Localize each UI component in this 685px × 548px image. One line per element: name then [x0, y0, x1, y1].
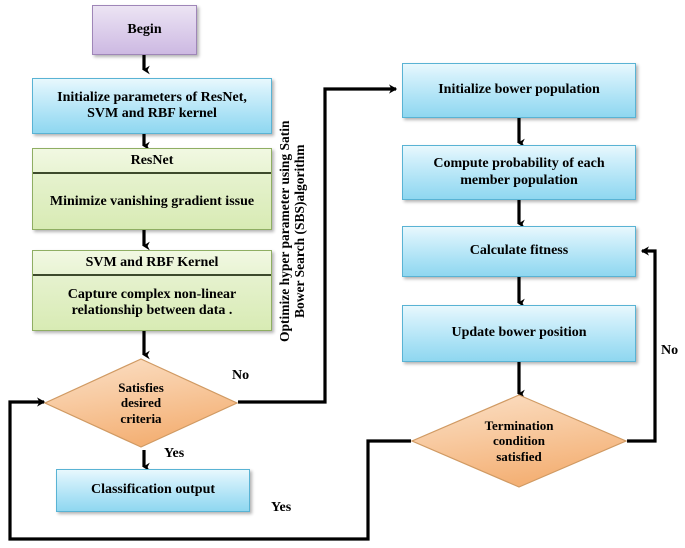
node-classification-output[interactable]: Classification output [56, 469, 250, 512]
edge-label-satisfies-yes: Yes [164, 446, 184, 462]
node-calculate-fitness[interactable]: Calculate fitness [402, 226, 636, 277]
node-initialize-bower-population-label: Initialize bower population [438, 82, 600, 98]
node-initialize-parameters[interactable]: Initialize parameters of ResNet, SVM and… [32, 78, 272, 134]
node-termination-condition[interactable]: Termination condition satisfied [411, 394, 627, 488]
node-resnet-body: Minimize vanishing gradient issue [33, 174, 271, 229]
edge-satisfies-no-to-initbower [238, 89, 396, 402]
node-compute-probability-label: Compute probability of each member popul… [413, 156, 625, 188]
edge-label-termination-yes: Yes [271, 500, 291, 516]
node-satisfies-desired-criteria[interactable]: Satisfies desired criteria [44, 358, 238, 448]
node-begin[interactable]: Begin [92, 5, 197, 55]
node-update-bower-position[interactable]: Update bower position [402, 305, 636, 362]
annotation-optimize-hyper-parameter: Optimize hyper parameter using Satin Bow… [277, 88, 313, 374]
node-initialize-parameters-label: Initialize parameters of ResNet, SVM and… [41, 90, 263, 122]
node-resnet[interactable]: ResNet Minimize vanishing gradient issue [32, 148, 272, 230]
node-resnet-header: ResNet [33, 149, 271, 174]
node-calculate-fitness-label: Calculate fitness [470, 243, 568, 259]
node-svm-rbf-kernel-header: SVM and RBF Kernel [33, 251, 271, 276]
flowchart-canvas: Begin Initialize parameters of ResNet, S… [0, 0, 685, 548]
satisfies-diamond-shape [44, 358, 238, 448]
node-svm-rbf-kernel-body: Capture complex non-linear relationship … [33, 276, 271, 330]
node-initialize-bower-population[interactable]: Initialize bower population [402, 63, 636, 118]
edge-label-termination-no: No [661, 343, 678, 359]
node-svm-rbf-kernel[interactable]: SVM and RBF Kernel Capture complex non-l… [32, 250, 272, 331]
node-classification-output-label: Classification output [91, 482, 215, 498]
edge-label-satisfies-no: No [232, 368, 249, 384]
termination-diamond-shape [411, 394, 627, 488]
node-update-bower-position-label: Update bower position [451, 325, 586, 341]
node-compute-probability[interactable]: Compute probability of each member popul… [402, 145, 636, 200]
node-begin-label: Begin [127, 22, 161, 38]
